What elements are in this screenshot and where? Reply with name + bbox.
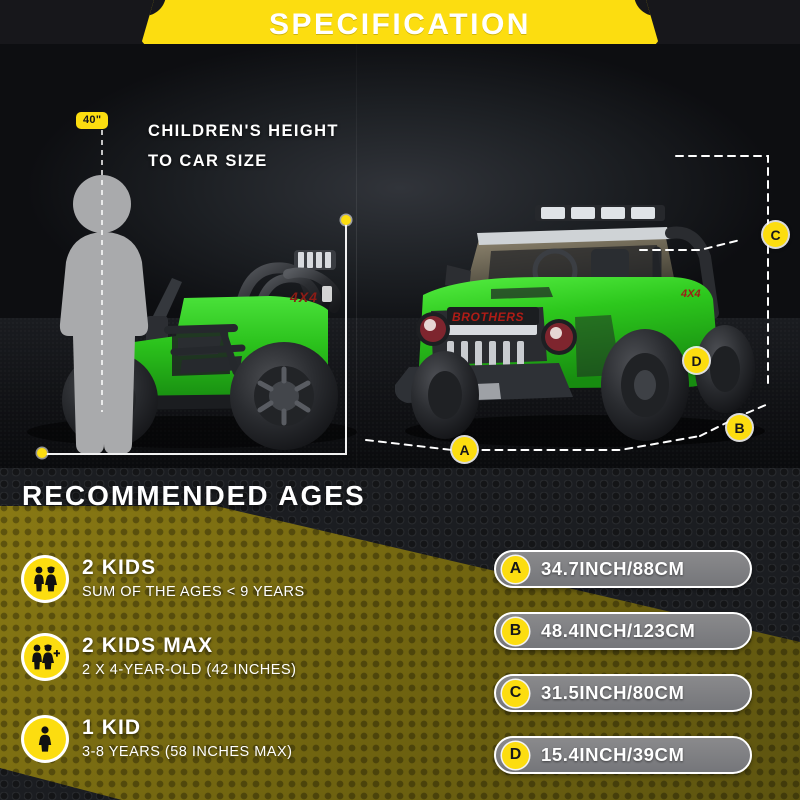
age-row-two-kids-max: 2 KIDS MAX 2 X 4-YEAR-OLD (42 INCHES) bbox=[24, 634, 296, 680]
page-title: SPECIFICATION bbox=[0, 8, 800, 42]
age-text-block: 1 KID 3-8 YEARS (58 INCHES MAX) bbox=[82, 716, 292, 762]
two-kids-max-icon bbox=[24, 636, 66, 678]
height-badge: 40" bbox=[76, 112, 108, 129]
age-sub-label: 2 X 4-YEAR-OLD (42 INCHES) bbox=[82, 660, 296, 680]
marker-d: D bbox=[684, 348, 709, 373]
pill-badge-c: C bbox=[502, 680, 529, 707]
height-dashed-line bbox=[101, 130, 103, 412]
marker-b: B bbox=[727, 415, 752, 440]
pill-value-d: 15.4INCH/39CM bbox=[541, 744, 685, 766]
one-kid-icon bbox=[24, 718, 66, 760]
age-row-one-kid: 1 KID 3-8 YEARS (58 INCHES MAX) bbox=[24, 716, 292, 762]
pill-value-c: 31.5INCH/80CM bbox=[541, 682, 685, 704]
age-main-label: 2 KIDS bbox=[82, 556, 305, 580]
product-photo-stage: 4X4 bbox=[0, 44, 800, 468]
pill-badge-a: A bbox=[502, 556, 529, 583]
pill-value-b: 48.4INCH/123CM bbox=[541, 620, 695, 642]
pill-badge-d: D bbox=[502, 742, 529, 769]
dimension-pill-b: B 48.4INCH/123CM bbox=[494, 612, 752, 650]
rule-endpoint-top bbox=[341, 215, 351, 225]
marker-a: A bbox=[452, 437, 477, 462]
dimension-pill-c: C 31.5INCH/80CM bbox=[494, 674, 752, 712]
age-text-block: 2 KIDS SUM OF THE AGES < 9 YEARS bbox=[82, 556, 305, 602]
marker-c: C bbox=[763, 222, 788, 247]
age-row-two-kids: 2 KIDS SUM OF THE AGES < 9 YEARS bbox=[24, 556, 305, 602]
age-text-block: 2 KIDS MAX 2 X 4-YEAR-OLD (42 INCHES) bbox=[82, 634, 296, 680]
age-sub-label: 3-8 YEARS (58 INCHES MAX) bbox=[82, 742, 292, 762]
two-kids-icon bbox=[24, 558, 66, 600]
section-title: RECOMMENDED AGES bbox=[22, 480, 366, 512]
dimension-pill-a: A 34.7INCH/88CM bbox=[494, 550, 752, 588]
age-sub-label: SUM OF THE AGES < 9 YEARS bbox=[82, 582, 305, 602]
dimension-pill-d: D 15.4INCH/39CM bbox=[494, 736, 752, 774]
age-main-label: 1 KID bbox=[82, 716, 292, 740]
pill-badge-b: B bbox=[502, 618, 529, 645]
pill-value-a: 34.7INCH/88CM bbox=[541, 558, 685, 580]
specification-infographic: SPECIFICATION bbox=[0, 0, 800, 800]
dimension-callout-paths bbox=[0, 44, 800, 468]
rule-endpoint-left bbox=[37, 448, 47, 458]
age-main-label: 2 KIDS MAX bbox=[82, 634, 296, 658]
